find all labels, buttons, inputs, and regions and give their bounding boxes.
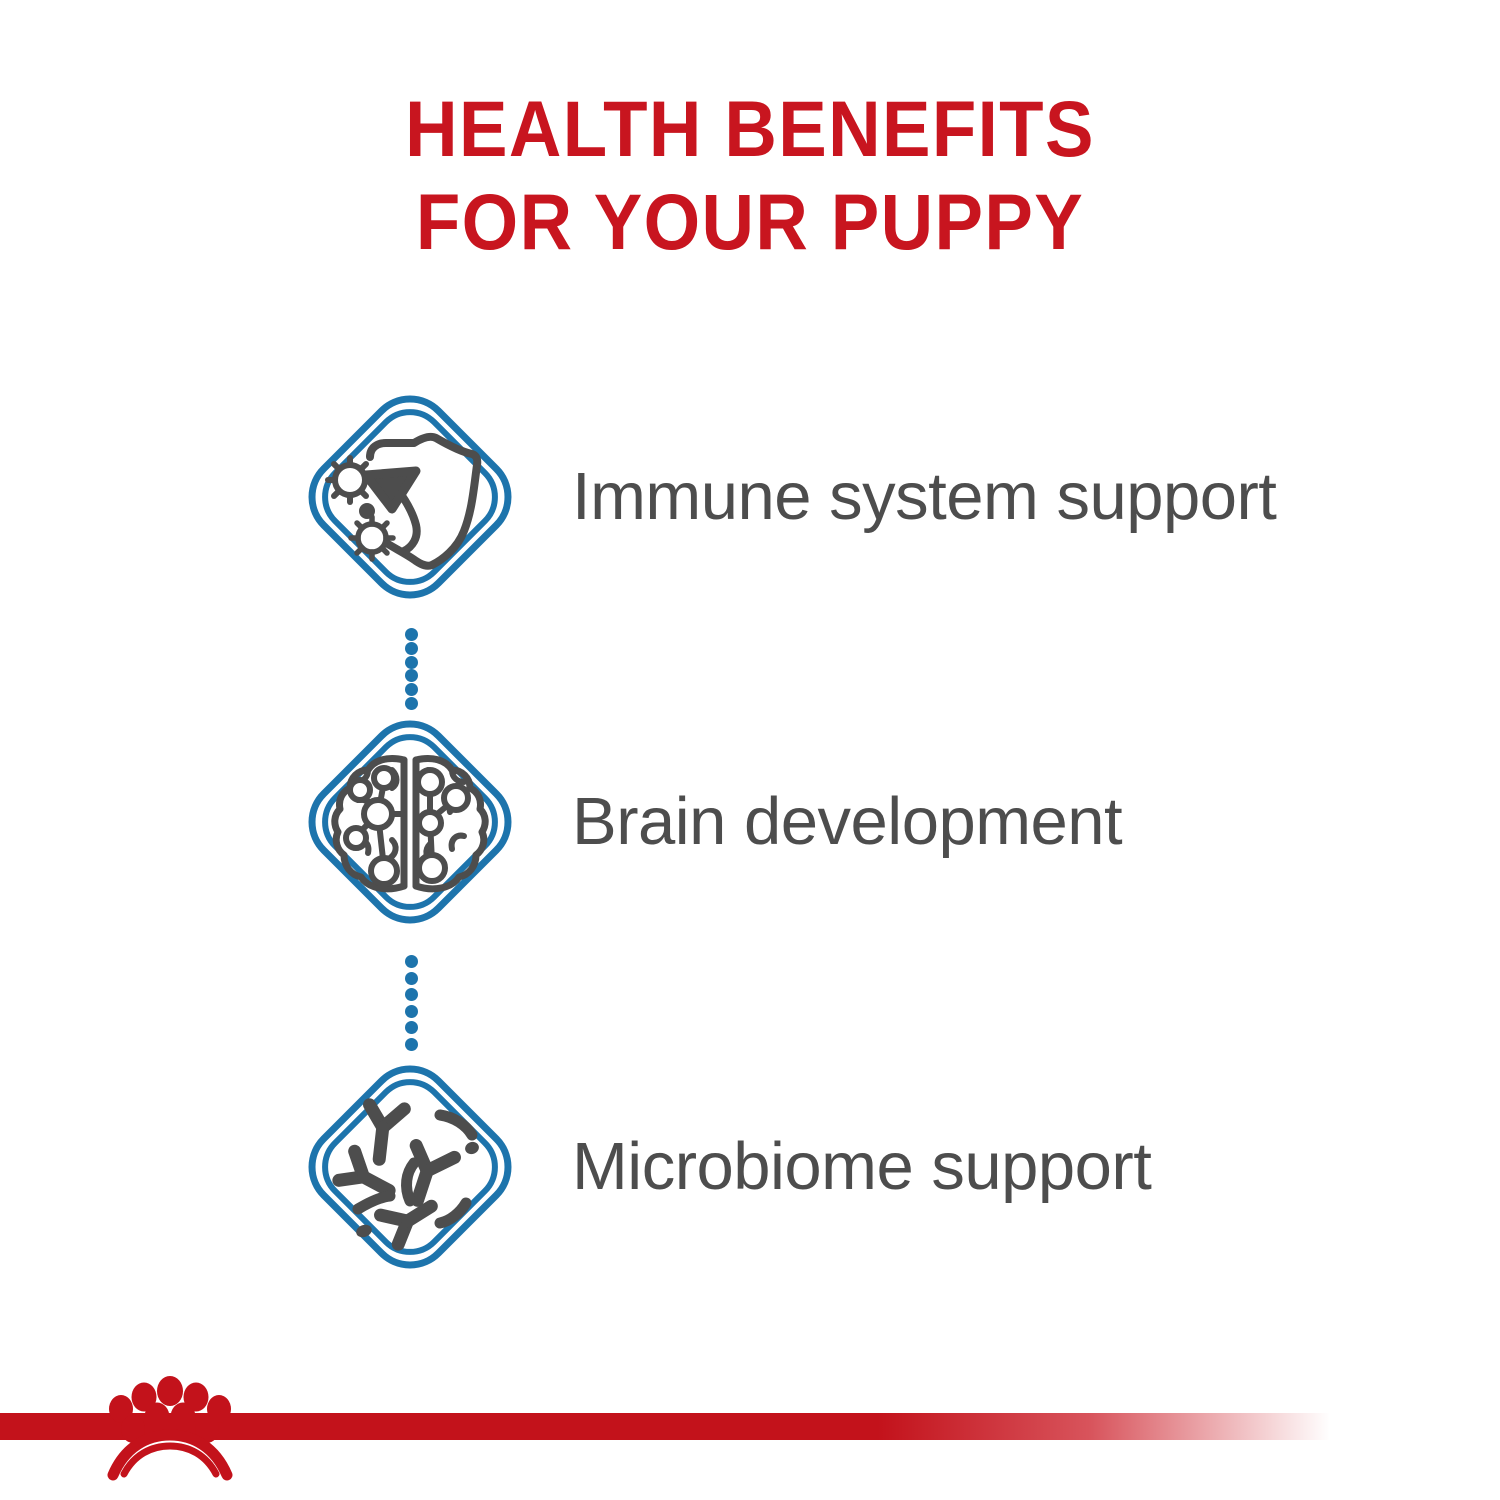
connector-dot bbox=[405, 955, 418, 968]
benefit-label: Brain development bbox=[572, 782, 1122, 861]
connector-dot bbox=[405, 669, 418, 682]
health-benefits-infographic: HEALTH BENEFITS FOR YOUR PUPPY bbox=[0, 0, 1500, 1500]
connector-dot bbox=[405, 628, 418, 641]
connector-dot bbox=[405, 1005, 418, 1018]
connector-dots bbox=[403, 628, 419, 710]
page-title: HEALTH BENEFITS FOR YOUR PUPPY bbox=[0, 82, 1500, 268]
connector-dot bbox=[405, 656, 418, 669]
benefit-label: Immune system support bbox=[572, 457, 1276, 536]
connector-dot bbox=[405, 683, 418, 696]
connector-dot bbox=[405, 972, 418, 985]
connector-dot bbox=[405, 988, 418, 1001]
benefit-row: Immune system support bbox=[296, 383, 1426, 611]
page-title-line-1: HEALTH BENEFITS bbox=[60, 82, 1440, 175]
benefit-row: Microbiome support bbox=[296, 1053, 1426, 1281]
connector-dots bbox=[403, 955, 419, 1051]
benefit-label: Microbiome support bbox=[572, 1127, 1151, 1206]
connector-dot bbox=[405, 1021, 418, 1034]
connector-dot bbox=[405, 642, 418, 655]
brain-icon bbox=[296, 708, 524, 936]
microbiome-icon bbox=[296, 1053, 524, 1281]
immune-shield-icon bbox=[296, 383, 524, 611]
connector-dot bbox=[405, 1038, 418, 1051]
royal-canin-crown-logo bbox=[95, 1371, 245, 1483]
page-title-line-2: FOR YOUR PUPPY bbox=[60, 175, 1440, 268]
benefit-row: Brain development bbox=[296, 708, 1426, 936]
